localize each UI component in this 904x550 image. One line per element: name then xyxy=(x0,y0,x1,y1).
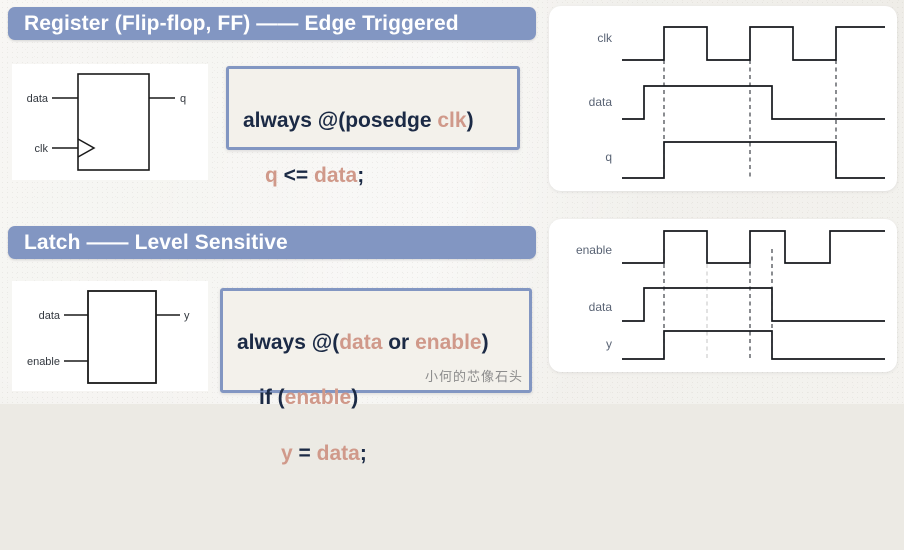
register-code-line-1: always @(posedge clk) xyxy=(243,107,505,135)
waveform-clk xyxy=(622,27,885,60)
code-token-or: or xyxy=(382,331,415,354)
waveform-label-y: y xyxy=(606,337,612,351)
flipflop-clk-label: clk xyxy=(35,143,49,155)
flipflop-q-label: q xyxy=(180,93,186,105)
latch-code-line-1: always @(data or enable) xyxy=(237,329,517,357)
slide-canvas: Register (Flip-flop, FF) —— Edge Trigger… xyxy=(0,0,904,404)
code-token-paren: ) xyxy=(482,331,489,354)
section-header-latch: Latch —— Level Sensitive xyxy=(8,226,536,259)
latch-data-label: data xyxy=(39,310,61,322)
waveform-label-data: data xyxy=(589,95,613,109)
waveform-q xyxy=(622,142,885,178)
latch-y-label: y xyxy=(184,310,190,322)
clock-edge-triangle-icon xyxy=(78,139,94,157)
code-token-nonblocking-assign: <= xyxy=(278,164,314,187)
waveform-enable xyxy=(622,231,885,263)
code-token-data: data xyxy=(339,331,382,354)
register-code-block: always @(posedge clk) q <= data; xyxy=(226,66,520,150)
code-token-clk: clk xyxy=(437,109,466,132)
waveform-label-enable: enable xyxy=(576,243,612,257)
flipflop-data-label: data xyxy=(27,93,49,105)
flipflop-body-rect xyxy=(78,74,149,170)
code-token-data: data xyxy=(314,164,357,187)
latch-code-line-3: y = data; xyxy=(237,440,517,468)
latch-code-line-2: if (enable) xyxy=(237,384,517,412)
code-token-enable: enable xyxy=(415,331,482,354)
waveform-label-clk: clk xyxy=(597,31,613,45)
flipflop-symbol-card: data clk q xyxy=(12,64,208,180)
latch-symbol-diagram: data enable y xyxy=(12,281,208,391)
code-token-data-rhs: data xyxy=(317,442,360,465)
code-token-blocking-assign: = xyxy=(293,442,317,465)
section-header-register: Register (Flip-flop, FF) —— Edge Trigger… xyxy=(8,7,536,40)
latch-timing-card: enable data y xyxy=(549,219,897,372)
code-token-paren: ) xyxy=(467,109,474,132)
waveform-y xyxy=(622,331,885,359)
waveform-label-data: data xyxy=(589,300,613,314)
section-header-latch-label: Latch —— Level Sensitive xyxy=(24,231,288,255)
flipflop-symbol-diagram: data clk q xyxy=(12,64,208,180)
waveform-data xyxy=(622,86,885,119)
latch-enable-label: enable xyxy=(27,356,60,368)
code-token-q: q xyxy=(265,164,278,187)
register-timing-card: clk data q xyxy=(549,6,897,191)
code-token-if: if ( xyxy=(259,386,285,409)
latch-code-block: always @(data or enable) if (enable) y =… xyxy=(220,288,532,393)
code-token-semicolon: ; xyxy=(357,164,364,187)
code-token-y: y xyxy=(281,442,293,465)
author-watermark: 小何的芯像石头 xyxy=(425,369,523,386)
code-token-always: always @(posedge xyxy=(243,109,437,132)
waveform-label-q: q xyxy=(605,150,612,164)
register-timing-diagram: clk data q xyxy=(549,6,897,191)
latch-body-rect xyxy=(88,291,156,383)
latch-timing-diagram: enable data y xyxy=(549,219,897,372)
latch-symbol-card: data enable y xyxy=(12,281,208,391)
code-token-enable-cond: enable xyxy=(285,386,352,409)
code-token-semicolon: ; xyxy=(360,442,367,465)
register-code-line-2: q <= data; xyxy=(243,162,505,190)
code-token-always: always @( xyxy=(237,331,339,354)
waveform-data xyxy=(622,288,885,321)
section-header-register-label: Register (Flip-flop, FF) —— Edge Trigger… xyxy=(24,12,459,36)
code-token-paren-close: ) xyxy=(351,386,358,409)
